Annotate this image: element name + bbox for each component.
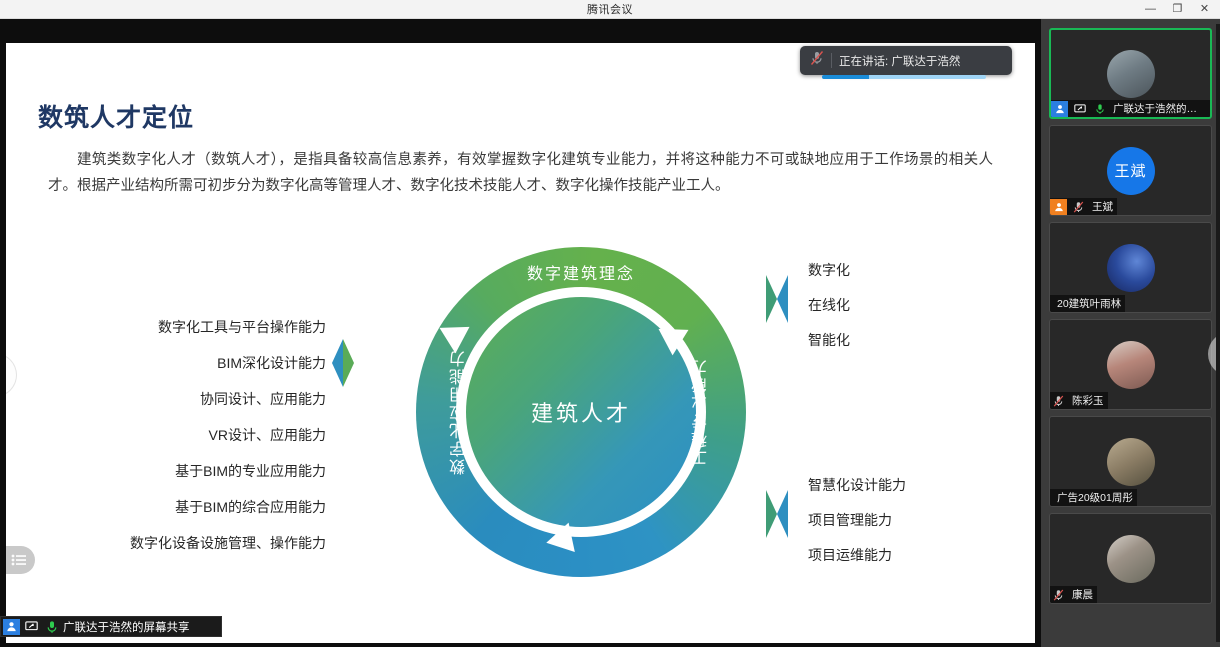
participant-tile[interactable]: 陈彩玉 [1049,319,1212,410]
shared-screen-stage: 数筑人才定位 建筑类数字化人才（数筑人才），是指具备较高信息素养，有效掌握数字化… [0,19,1041,647]
window-controls: — ❐ ✕ [1137,0,1218,19]
avatar [1107,244,1155,292]
tile-footer: 广告20级01周彤 [1050,489,1137,506]
right-bottom-item: 项目运维能力 [808,538,906,573]
slide-title: 数筑人才定位 [38,98,194,134]
left-capability-list: 数字化工具与平台操作能力 BIM深化设计能力 协同设计、应用能力 VR设计、应用… [66,309,326,561]
participant-name: 康晨 [1070,587,1093,602]
host-icon [1050,199,1067,215]
participant-tile[interactable]: 广联达于浩然的屏幕... [1049,28,1212,119]
avatar [1107,341,1155,389]
avatar [1107,438,1155,486]
slide-outline-icon[interactable] [6,546,35,574]
avatar [1107,535,1155,583]
participant-sidebar: 广联达于浩然的屏幕... 王斌 [1041,19,1220,647]
participant-name: 陈彩玉 [1070,393,1104,408]
right-bottom-item: 智慧化设计能力 [808,468,906,503]
tile-footer: 20建筑叶雨林 [1050,295,1125,312]
tile-footer: 王斌 [1050,198,1117,215]
right-top-item: 数字化 [808,253,850,288]
mic-muted-icon [1050,587,1067,603]
mic-on-icon [43,619,60,635]
participant-name: 广联达于浩然的屏幕... [1111,101,1206,116]
speaking-indicator: 正在讲话: 广联达于浩然 [800,46,1012,75]
right-top-capability-group: 数字化 在线化 智能化 [808,253,850,358]
bowtie-arrow-right-bottom-icon [766,490,788,538]
share-owner-label: 广联达于浩然的屏幕共享 [63,619,190,635]
host-icon [1051,101,1068,117]
participant-tile[interactable]: 王斌 王斌 [1049,125,1212,216]
participant-tile[interactable]: 康晨 [1049,513,1212,604]
minimize-icon[interactable]: — [1137,0,1164,19]
left-capability-item: VR设计、应用能力 [66,417,326,453]
right-top-item: 在线化 [808,288,850,323]
left-capability-item: BIM深化设计能力 [66,345,326,381]
maximize-icon[interactable]: ❐ [1164,0,1191,19]
bowtie-arrow-right-top-icon [766,275,788,323]
sidebar-scrollbar[interactable] [1216,24,1220,642]
tile-footer: 陈彩玉 [1050,392,1108,409]
slide-body-text: 建筑类数字化人才（数筑人才），是指具备较高信息素养，有效掌握数字化建筑专业能力，… [48,147,993,199]
share-progress-bar [822,75,986,79]
diagram-center-label: 建筑人才 [531,396,631,428]
mic-on-icon [1091,101,1108,117]
participant-name: 20建筑叶雨林 [1055,296,1121,311]
speaking-label: 正在讲话: 广联达于浩然 [839,53,960,69]
left-capability-item: 数字化设备设施管理、操作能力 [66,525,326,561]
toast-divider [831,53,832,68]
left-capability-item: 协同设计、应用能力 [66,381,326,417]
host-icon [3,619,20,635]
left-capability-item: 基于BIM的综合应用能力 [66,489,326,525]
mic-muted-icon [810,50,824,71]
tile-footer: 康晨 [1050,586,1097,603]
mic-muted-icon [1070,199,1087,215]
mic-muted-icon [1050,393,1067,409]
talent-circle-diagram: 建筑人才 数字建筑理念 工程专业能力 数字化应用能力 [416,247,746,577]
close-icon[interactable]: ✕ [1191,0,1218,19]
participant-name: 广告20级01周彤 [1055,490,1133,505]
screen-share-icon [23,619,40,635]
presentation-slide: 数筑人才定位 建筑类数字化人才（数筑人才），是指具备较高信息素养，有效掌握数字化… [6,43,1035,643]
participant-tile[interactable]: 20建筑叶雨林 [1049,222,1212,313]
left-capability-item: 基于BIM的专业应用能力 [66,453,326,489]
tile-footer: 广联达于浩然的屏幕... [1051,100,1210,117]
right-bottom-item: 项目管理能力 [808,503,906,538]
right-top-item: 智能化 [808,323,850,358]
window-title: 腾讯会议 [587,1,633,17]
avatar: 王斌 [1107,147,1155,195]
bowtie-arrow-left-icon [332,339,354,387]
screen-share-icon [1071,101,1088,117]
left-capability-item: 数字化工具与平台操作能力 [66,309,326,345]
title-bar: 腾讯会议 — ❐ ✕ [0,0,1220,19]
avatar [1107,50,1155,98]
participant-tile[interactable]: 广告20级01周彤 [1049,416,1212,507]
tencent-meeting-window: 腾讯会议 — ❐ ✕ 数筑人才定位 建筑类数字化人才（数筑人才），是指具备较高信… [0,0,1220,647]
participant-name: 王斌 [1090,199,1113,214]
right-bottom-capability-group: 智慧化设计能力 项目管理能力 项目运维能力 [808,468,906,573]
slide-prev-handle[interactable] [6,353,17,397]
screen-share-status-bar: 广联达于浩然的屏幕共享 [0,616,222,637]
